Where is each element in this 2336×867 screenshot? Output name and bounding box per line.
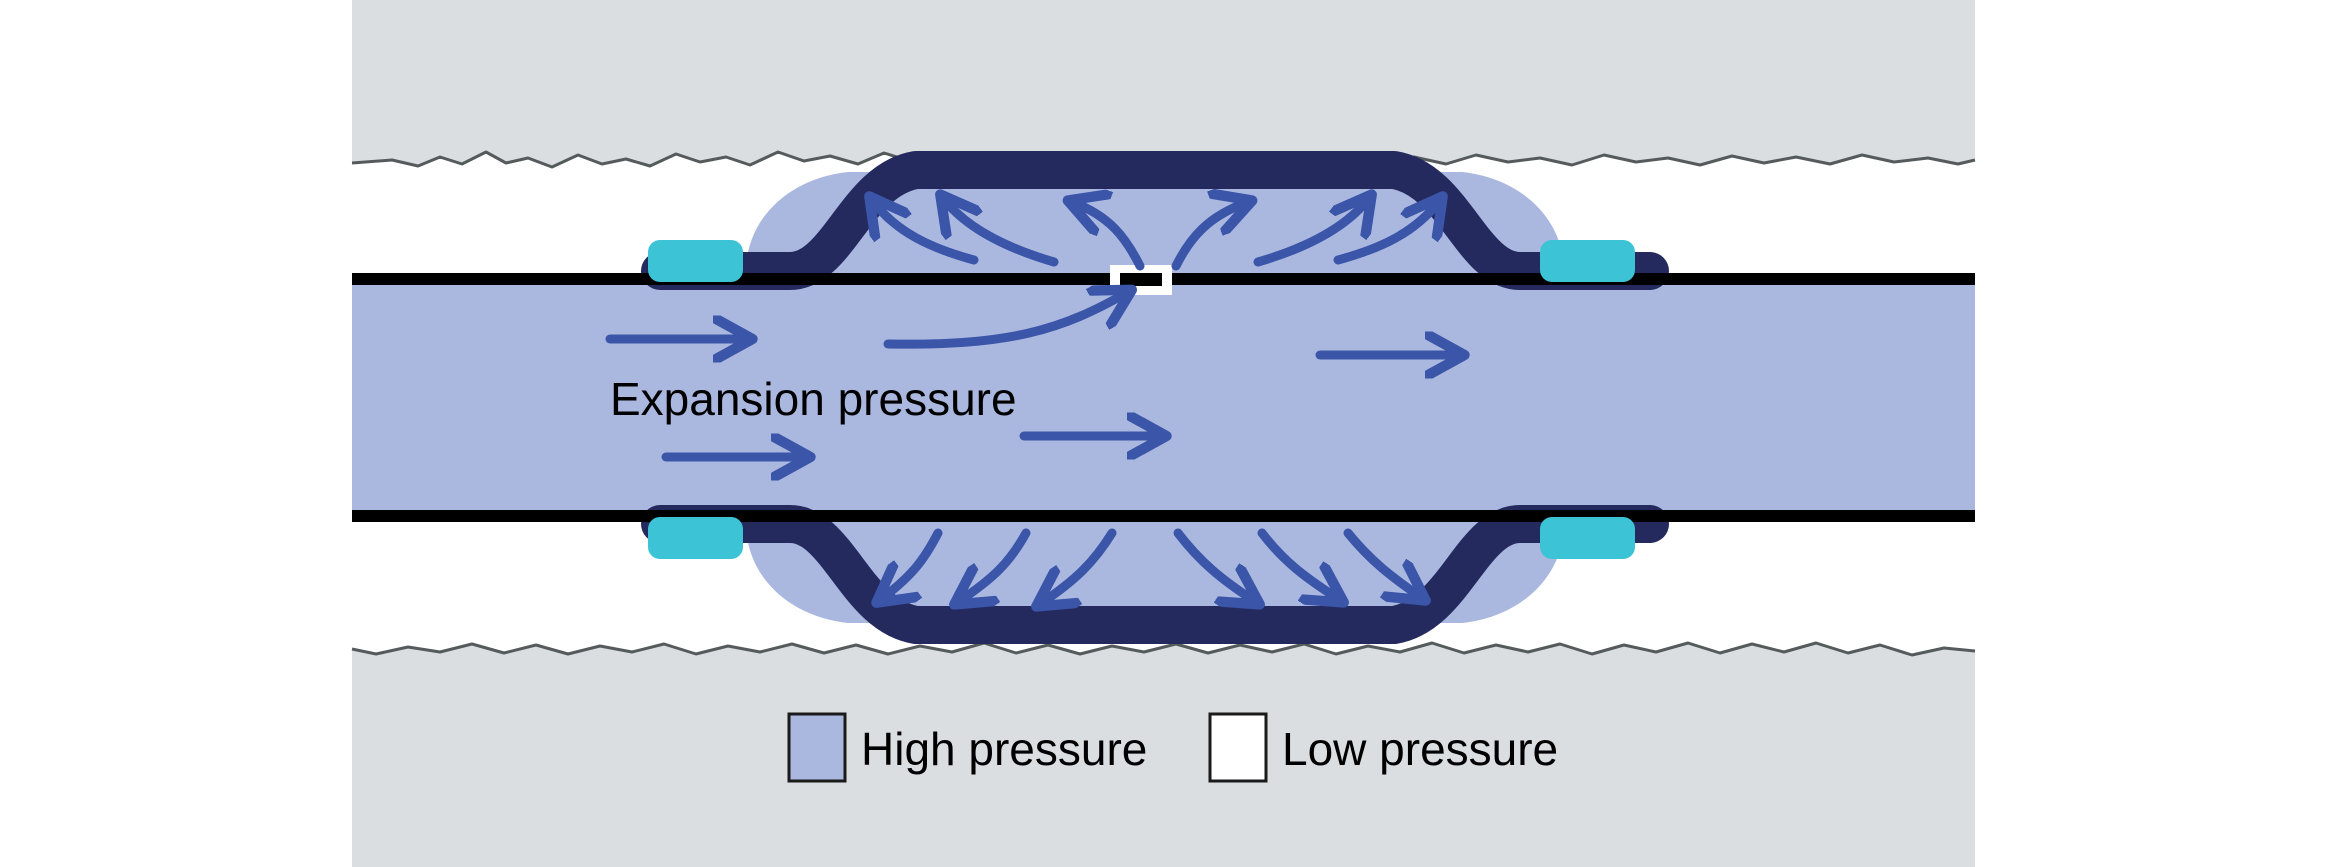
- legend-item-low-pressure: Low pressure: [1210, 714, 1558, 781]
- radiopaque-marker-upper-left: [648, 240, 743, 282]
- legend-label-low-pressure: Low pressure: [1282, 723, 1558, 775]
- catheter-wall-bottom-line: [352, 510, 1975, 522]
- catheter-shaft-high-pressure: [352, 283, 1975, 512]
- legend-swatch-low-pressure: [1210, 714, 1266, 781]
- figure-root: Expansion pressure High pressure Low pre…: [0, 0, 2336, 867]
- legend-item-high-pressure: High pressure: [789, 714, 1147, 781]
- radiopaque-marker-lower-right: [1540, 517, 1635, 559]
- legend-label-high-pressure: High pressure: [861, 723, 1147, 775]
- radiopaque-marker-lower-left: [648, 517, 743, 559]
- central-port-opening: [1120, 273, 1162, 286]
- legend-swatch-high-pressure: [789, 714, 845, 781]
- radiopaque-marker-upper-right: [1540, 240, 1635, 282]
- expansion-pressure-label: Expansion pressure: [610, 373, 1017, 425]
